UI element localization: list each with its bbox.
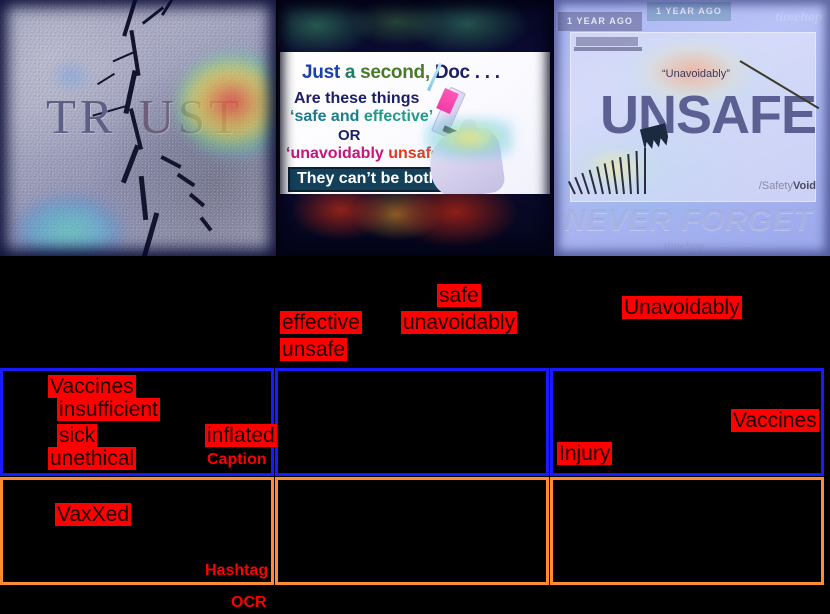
panel-vignette <box>554 0 830 256</box>
caption-token: sick <box>57 424 97 447</box>
panel-unsafe-timehop[interactable]: “Unavoidably” UNSAFE /Safet <box>554 0 830 256</box>
panel-trust-crack[interactable]: TRUST <box>0 0 276 256</box>
caption-token: Vaccines <box>48 375 136 398</box>
caption-token: Vaccines <box>731 409 819 432</box>
caption-token: Injury <box>557 442 612 465</box>
caption-token: unethical <box>48 447 136 470</box>
ocr-token: unavoidably <box>401 311 517 334</box>
row-label-caption: Caption <box>207 451 267 469</box>
panel-just-a-second-doc[interactable]: Just a second, Doc . . . Are these thing… <box>277 0 553 256</box>
panel-vignette <box>0 0 276 256</box>
caption-cell-2[interactable] <box>275 368 549 476</box>
hashtag-cell-3[interactable] <box>550 477 824 585</box>
panel-3-inner: “Unavoidably” UNSAFE /Safet <box>554 0 830 256</box>
panel-1-inner: TRUST <box>0 0 276 256</box>
visualization-root: TRUST Just a second, Doc . . . Are these… <box>0 0 830 614</box>
ocr-token: unsafe <box>280 338 347 361</box>
image-panel-row: TRUST Just a second, Doc . . . Are these… <box>0 0 830 256</box>
caption-token: insufficient <box>57 398 160 421</box>
ocr-token: safe <box>437 284 481 307</box>
ocr-token: effective <box>280 311 362 334</box>
hashtag-cell-2[interactable] <box>275 477 549 585</box>
hashtag-token: VaxXed <box>55 503 131 526</box>
row-label-hashtag: Hashtag <box>205 562 268 580</box>
panel-2-inner: Just a second, Doc . . . Are these thing… <box>277 0 553 256</box>
panel-vignette <box>277 0 553 256</box>
hashtag-row <box>0 477 830 585</box>
caption-token: inflated <box>205 424 277 447</box>
ocr-token: Unavoidably <box>622 296 742 319</box>
row-label-ocr: OCR <box>231 594 267 612</box>
